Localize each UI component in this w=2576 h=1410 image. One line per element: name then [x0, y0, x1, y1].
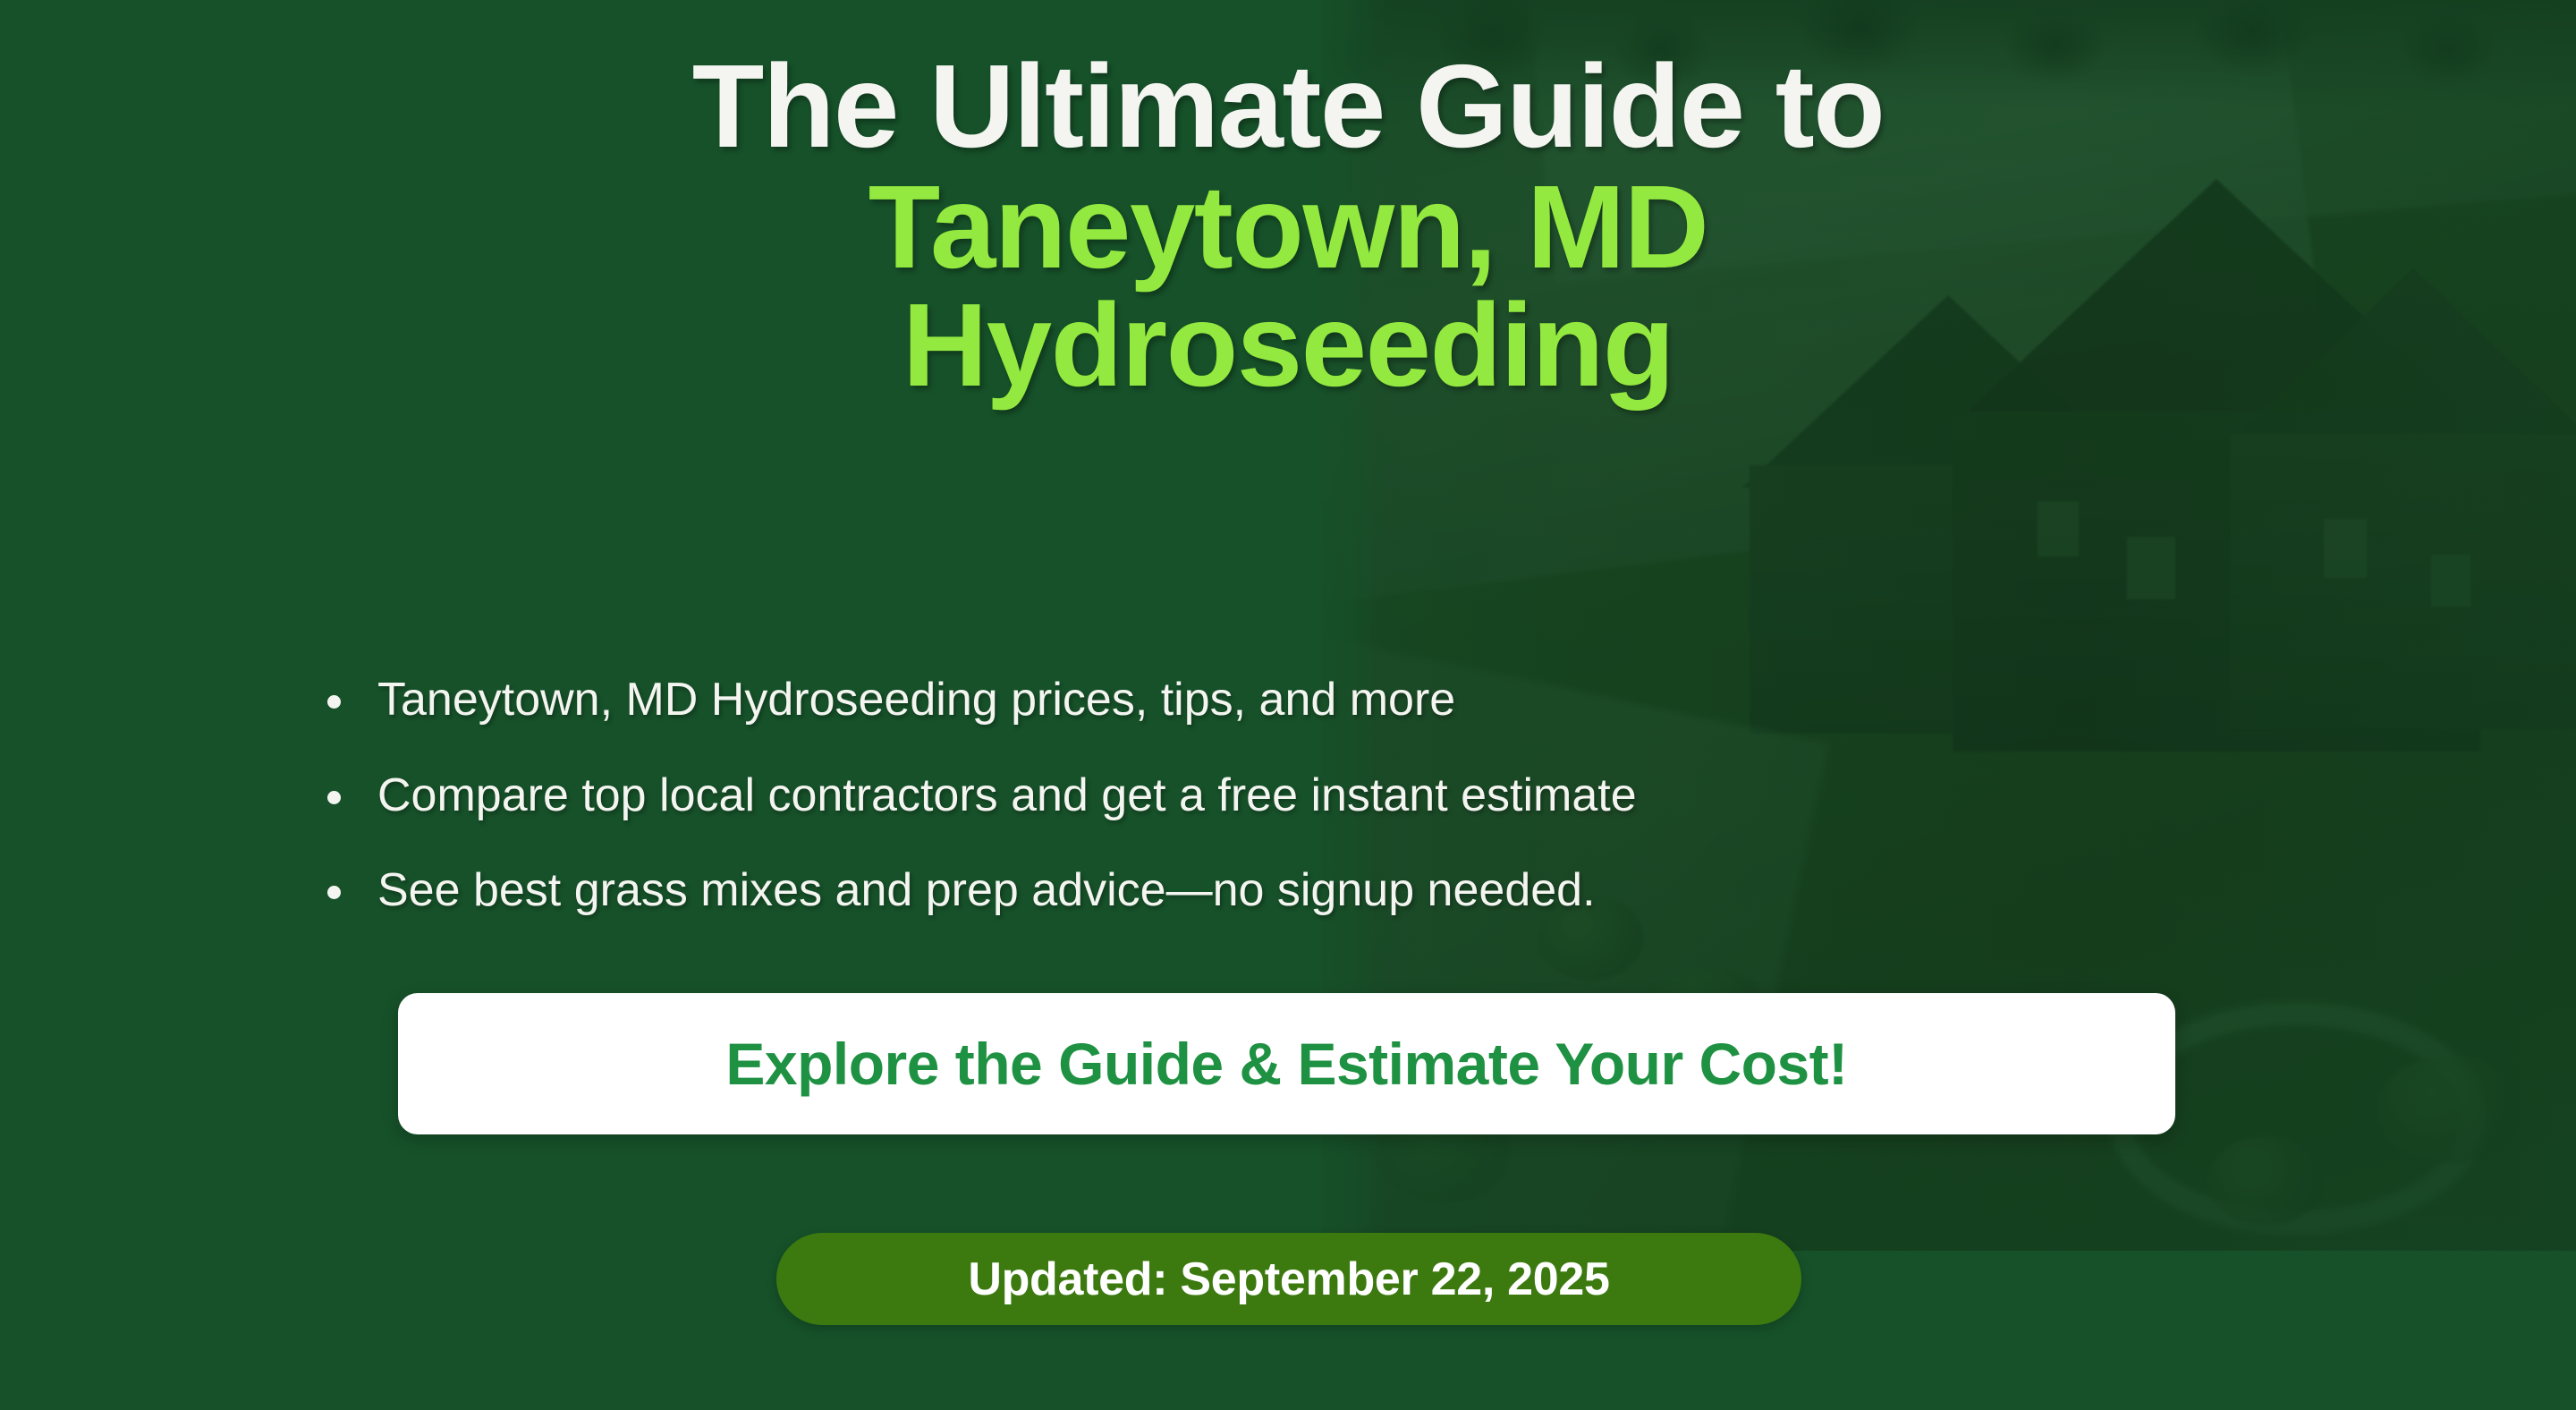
updated-date-label: Updated: September 22, 2025	[968, 1253, 1609, 1306]
hero-banner: The Ultimate Guide to Taneytown, MD Hydr…	[0, 0, 2576, 1410]
list-item: Compare top local contractors and get a …	[322, 771, 1637, 820]
explore-guide-cta-button[interactable]: Explore the Guide & Estimate Your Cost!	[398, 993, 2175, 1134]
list-item: Taneytown, MD Hydroseeding prices, tips,…	[322, 675, 1637, 725]
title-line-primary: The Ultimate Guide to	[54, 47, 2522, 167]
benefits-list: Taneytown, MD Hydroseeding prices, tips,…	[322, 675, 1637, 915]
page-title: The Ultimate Guide to Taneytown, MD Hydr…	[0, 47, 2576, 406]
updated-date-badge: Updated: September 22, 2025	[776, 1233, 1801, 1325]
title-line-accent-1: Taneytown, MD	[54, 167, 2522, 288]
cta-button-label: Explore the Guide & Estimate Your Cost!	[725, 1030, 1847, 1098]
hero-content: The Ultimate Guide to Taneytown, MD Hydr…	[0, 0, 2576, 1410]
list-item: See best grass mixes and prep advice—no …	[322, 866, 1637, 915]
title-line-accent-2: Hydroseeding	[54, 285, 2522, 406]
